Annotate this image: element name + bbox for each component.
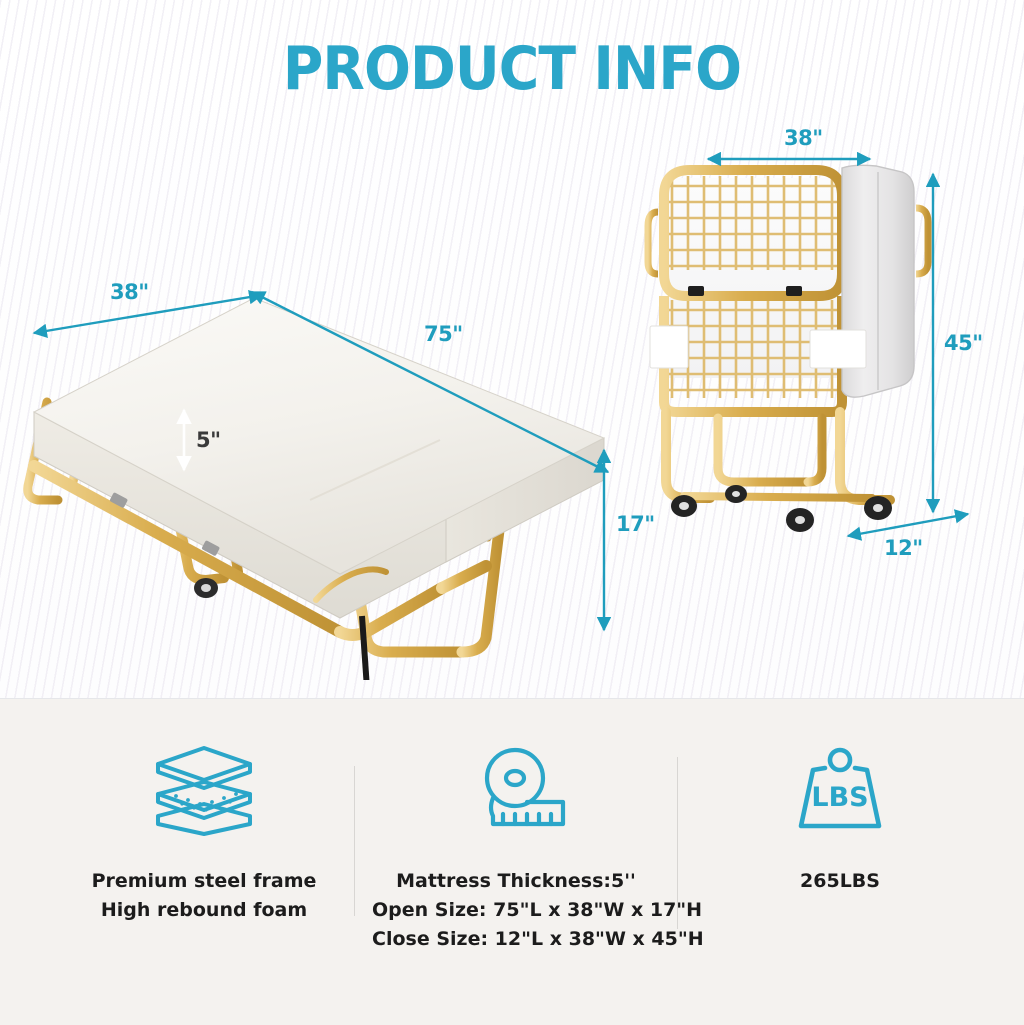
- dimension-arrow-open-length: [246, 286, 614, 486]
- feature-dimensions-caption: Mattress Thickness:5'' Open Size: 75"L x…: [364, 867, 674, 954]
- folded-side-handle-left: [648, 212, 658, 274]
- dimension-arrow-folded-height: [922, 168, 944, 518]
- feature-premium-frame: Premium steel frame High rebound foam: [44, 735, 364, 925]
- tape-measure-icon: [467, 744, 571, 836]
- page-title: PRODUCT INFO: [41, 34, 983, 104]
- caption-line: Close Size: 12"L x 38"W x 45"H: [372, 928, 704, 950]
- dimension-arrow-folded-width: [702, 150, 876, 168]
- illustration-section: PRODUCT INFO: [0, 0, 1024, 698]
- bed-casters: [194, 578, 218, 598]
- weight-lbs-icon-wrap: LBS: [690, 735, 990, 845]
- dimension-label-open-width: 38": [110, 280, 149, 304]
- dimension-arrow-open-height: [592, 444, 616, 636]
- dimension-label-folded-depth: 12": [884, 536, 923, 560]
- weight-lbs-icon: LBS: [793, 744, 887, 836]
- feature-premium-frame-caption: Premium steel frame High rebound foam: [44, 867, 364, 925]
- caption-line: Open Size: 75"L x 38"W x 17"H: [372, 899, 702, 921]
- caption-line: High rebound foam: [101, 899, 307, 921]
- caption-line: Mattress Thickness:5'': [372, 867, 674, 896]
- dimension-label-folded-height: 45": [944, 331, 983, 355]
- feature-weight-capacity: LBS 265LBS: [690, 735, 990, 896]
- dimension-arrow-mattress-thickness: [172, 404, 196, 476]
- folded-base-frame: [666, 412, 890, 500]
- dimension-label-mattress-thickness: 5": [196, 428, 221, 452]
- feature-dimensions: Mattress Thickness:5'' Open Size: 75"L x…: [364, 735, 674, 954]
- caption-line: Premium steel frame: [92, 870, 317, 892]
- feature-weight-capacity-caption: 265LBS: [690, 867, 990, 896]
- layered-foam-icon-wrap: [44, 735, 364, 845]
- weight-icon-text: LBS: [811, 782, 868, 813]
- tape-measure-icon-wrap: [364, 735, 674, 845]
- layered-foam-icon: [150, 742, 258, 838]
- caption-line: 265LBS: [800, 870, 880, 892]
- dimension-label-open-length: 75": [424, 322, 463, 346]
- product-info-graphic: PRODUCT INFO: [0, 0, 1024, 1024]
- folded-bed-illustration: [640, 150, 960, 550]
- dimension-label-folded-width: 38": [784, 126, 823, 150]
